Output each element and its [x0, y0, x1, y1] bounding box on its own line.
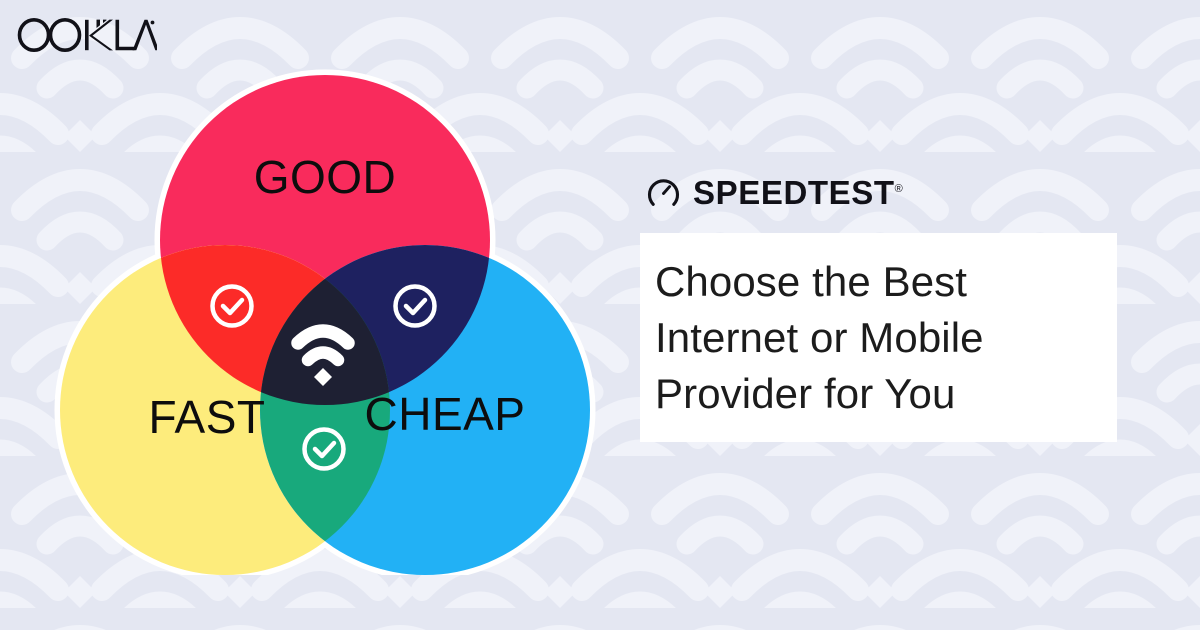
- venn-label-fast: FAST: [148, 391, 265, 443]
- good-fast-cheap-venn-diagram: GOOD FAST CHEAP: [40, 55, 610, 575]
- speedtest-logo: SPEEDTEST®: [647, 176, 903, 209]
- speedtest-wordmark-text: SPEEDTEST: [693, 174, 895, 211]
- headline-card: Choose the Best Internet or Mobile Provi…: [640, 233, 1117, 442]
- speedometer-gauge-icon: [647, 176, 680, 209]
- speedtest-wordmark: SPEEDTEST®: [693, 176, 903, 209]
- headline-title: Choose the Best Internet or Mobile Provi…: [655, 254, 1117, 422]
- infographic-canvas: GOOD FAST CHEAP SPEED: [0, 0, 1200, 630]
- venn-label-good: GOOD: [254, 151, 397, 203]
- venn-label-cheap: CHEAP: [365, 388, 526, 440]
- ookla-logo: [17, 17, 157, 53]
- registered-trademark-symbol: ®: [895, 183, 903, 195]
